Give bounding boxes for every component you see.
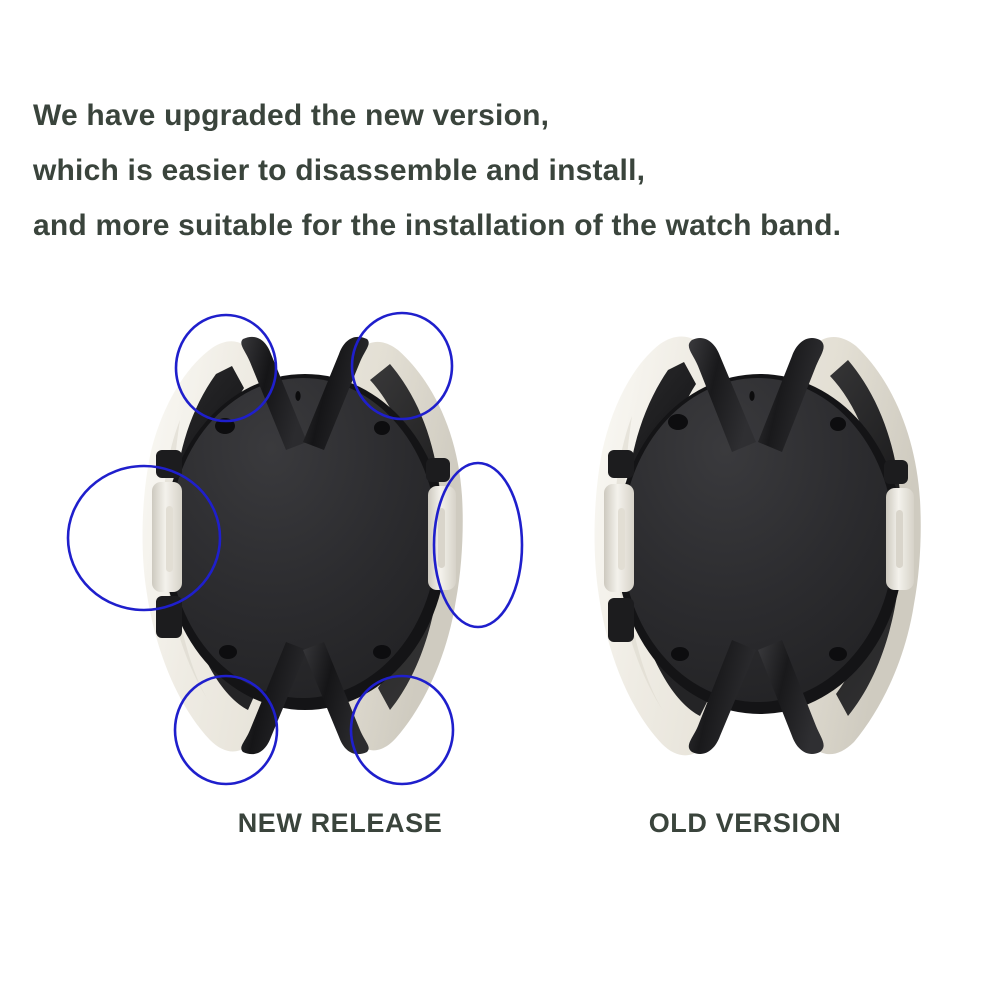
watch-case-old-version-illustration — [520, 300, 970, 800]
right-side-cutout-upper — [426, 458, 450, 482]
headline-line-2: which is easier to disassemble and insta… — [33, 143, 983, 198]
screw-nub-top-right — [374, 421, 390, 435]
watch-screen-group — [163, 374, 447, 710]
screw-nub-top-left — [668, 414, 688, 430]
left-side-button-slot — [618, 508, 625, 570]
right-side-button-slot — [896, 510, 903, 568]
watch-case-old-version — [520, 300, 970, 800]
left-side-cutout-lower — [608, 598, 634, 642]
headline-line-3: and more suitable for the installation o… — [33, 198, 983, 253]
screw-nub-bottom-right — [829, 647, 847, 661]
screw-nub-bottom-left — [219, 645, 237, 659]
watch-case-new-release-illustration — [60, 300, 530, 800]
microphone-hole-icon — [749, 391, 754, 401]
screw-nub-bottom-right — [373, 645, 391, 659]
watch-screen — [622, 378, 894, 702]
headline-line-1: We have upgraded the new version, — [33, 88, 983, 143]
watch-case-new-release — [60, 300, 530, 800]
caption-new-release: NEW RELEASE — [140, 808, 540, 839]
right-side-button-slot — [438, 508, 445, 568]
screw-nub-bottom-left — [671, 647, 689, 661]
watch-screen-group — [616, 374, 904, 714]
product-comparison-image: We have upgraded the new version, which … — [0, 0, 1000, 1000]
microphone-hole-icon — [295, 391, 300, 401]
right-side-cutout-upper — [884, 460, 908, 484]
caption-old-version: OLD VERSION — [545, 808, 945, 839]
screw-nub-top-right — [830, 417, 846, 431]
headline-block: We have upgraded the new version, which … — [33, 88, 983, 253]
left-side-button-slot — [166, 506, 173, 572]
left-side-cutout-upper — [608, 450, 634, 478]
